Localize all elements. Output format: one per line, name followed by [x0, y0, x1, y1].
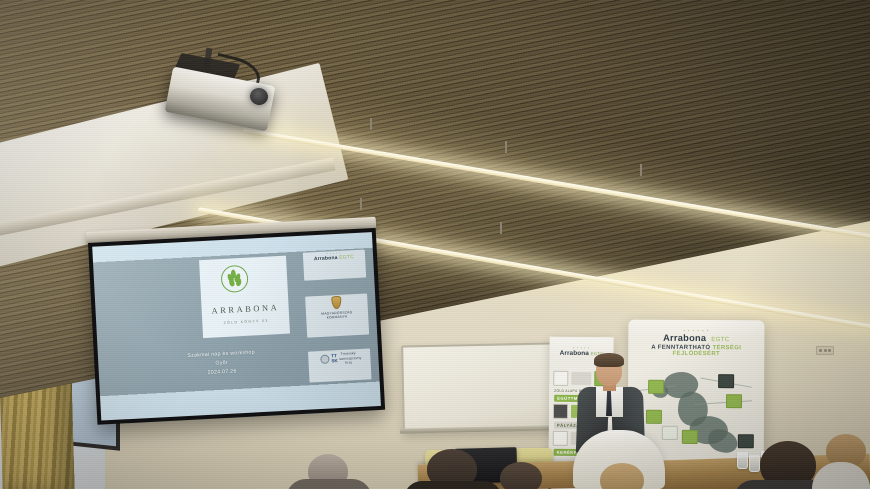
conference-room-photo: ARRABONA ZÖLD KÖNYV 03 Szakmai nap és wo…: [0, 0, 870, 489]
pendant-stem: [370, 118, 372, 130]
slide-logo-arrabona-suffix: EGTC: [339, 254, 354, 261]
projection-screen: ARRABONA ZÖLD KÖNYV 03 Szakmai nap és wo…: [88, 228, 385, 425]
map-chip-icon: [738, 434, 754, 448]
hungary-coat-of-arms-icon: [331, 295, 342, 309]
ttsk-seal-icon: [321, 355, 330, 364]
ttsk-line-2: SK: [331, 358, 338, 363]
whiteboard: [401, 342, 555, 433]
document-icon: [553, 371, 568, 386]
slide-logo-arrabona: • • • • • Arrabona EGTC: [303, 250, 366, 281]
pendant-stem: [360, 198, 362, 210]
pendant-stem: [505, 141, 507, 153]
map-chip-icon: [682, 430, 698, 444]
socket-hole-icon: [824, 349, 827, 352]
bicycle-icon: [553, 431, 568, 446]
banner-right-brand: Arrabona: [663, 333, 706, 343]
dots-ornament: • • • • • •: [628, 320, 764, 334]
map-chip-icon: [726, 394, 742, 408]
slide-logo-hungary-government: MAGYARORSZÁG KORMÁNYA: [305, 293, 369, 338]
banner-right-brand-suffix: EGTC: [709, 336, 729, 343]
slide-logo-ttsk: TT SK Trnavský samosprávny kraj: [308, 349, 371, 383]
map-chip-icon: [648, 380, 664, 394]
presenter-hair: [594, 353, 624, 367]
slide-logo-strip: • • • • • Arrabona EGTC MAGYARORSZÁG KOR…: [303, 250, 372, 392]
photo-tile-icon: [553, 404, 568, 419]
audience-member: [286, 479, 372, 489]
water-glass: [749, 455, 760, 472]
audience-member: [500, 462, 542, 489]
pendant-stem: [500, 222, 502, 234]
wall-socket-plate: [816, 346, 834, 355]
slide-logo-arrabona-brand: Arrabona: [314, 255, 338, 262]
map-chip-icon: [646, 410, 662, 424]
socket-hole-icon: [828, 349, 831, 352]
slide-logo-panel: [199, 256, 290, 339]
slide-text-block: Szakmai nap és workshop Győr 2024.07.26: [148, 346, 295, 381]
map-chip-icon: [662, 426, 678, 440]
audience-member: [600, 463, 644, 489]
pendant-stem: [640, 164, 642, 176]
map-chip-icon: [718, 374, 734, 388]
ttsk-caption: Trnavský samosprávny kraj: [339, 351, 358, 365]
socket-hole-icon: [819, 349, 822, 352]
audience-member: [404, 481, 502, 489]
water-glass: [737, 452, 748, 469]
presentation-slide: ARRABONA ZÖLD KÖNYV 03 Szakmai nap és wo…: [92, 232, 381, 420]
